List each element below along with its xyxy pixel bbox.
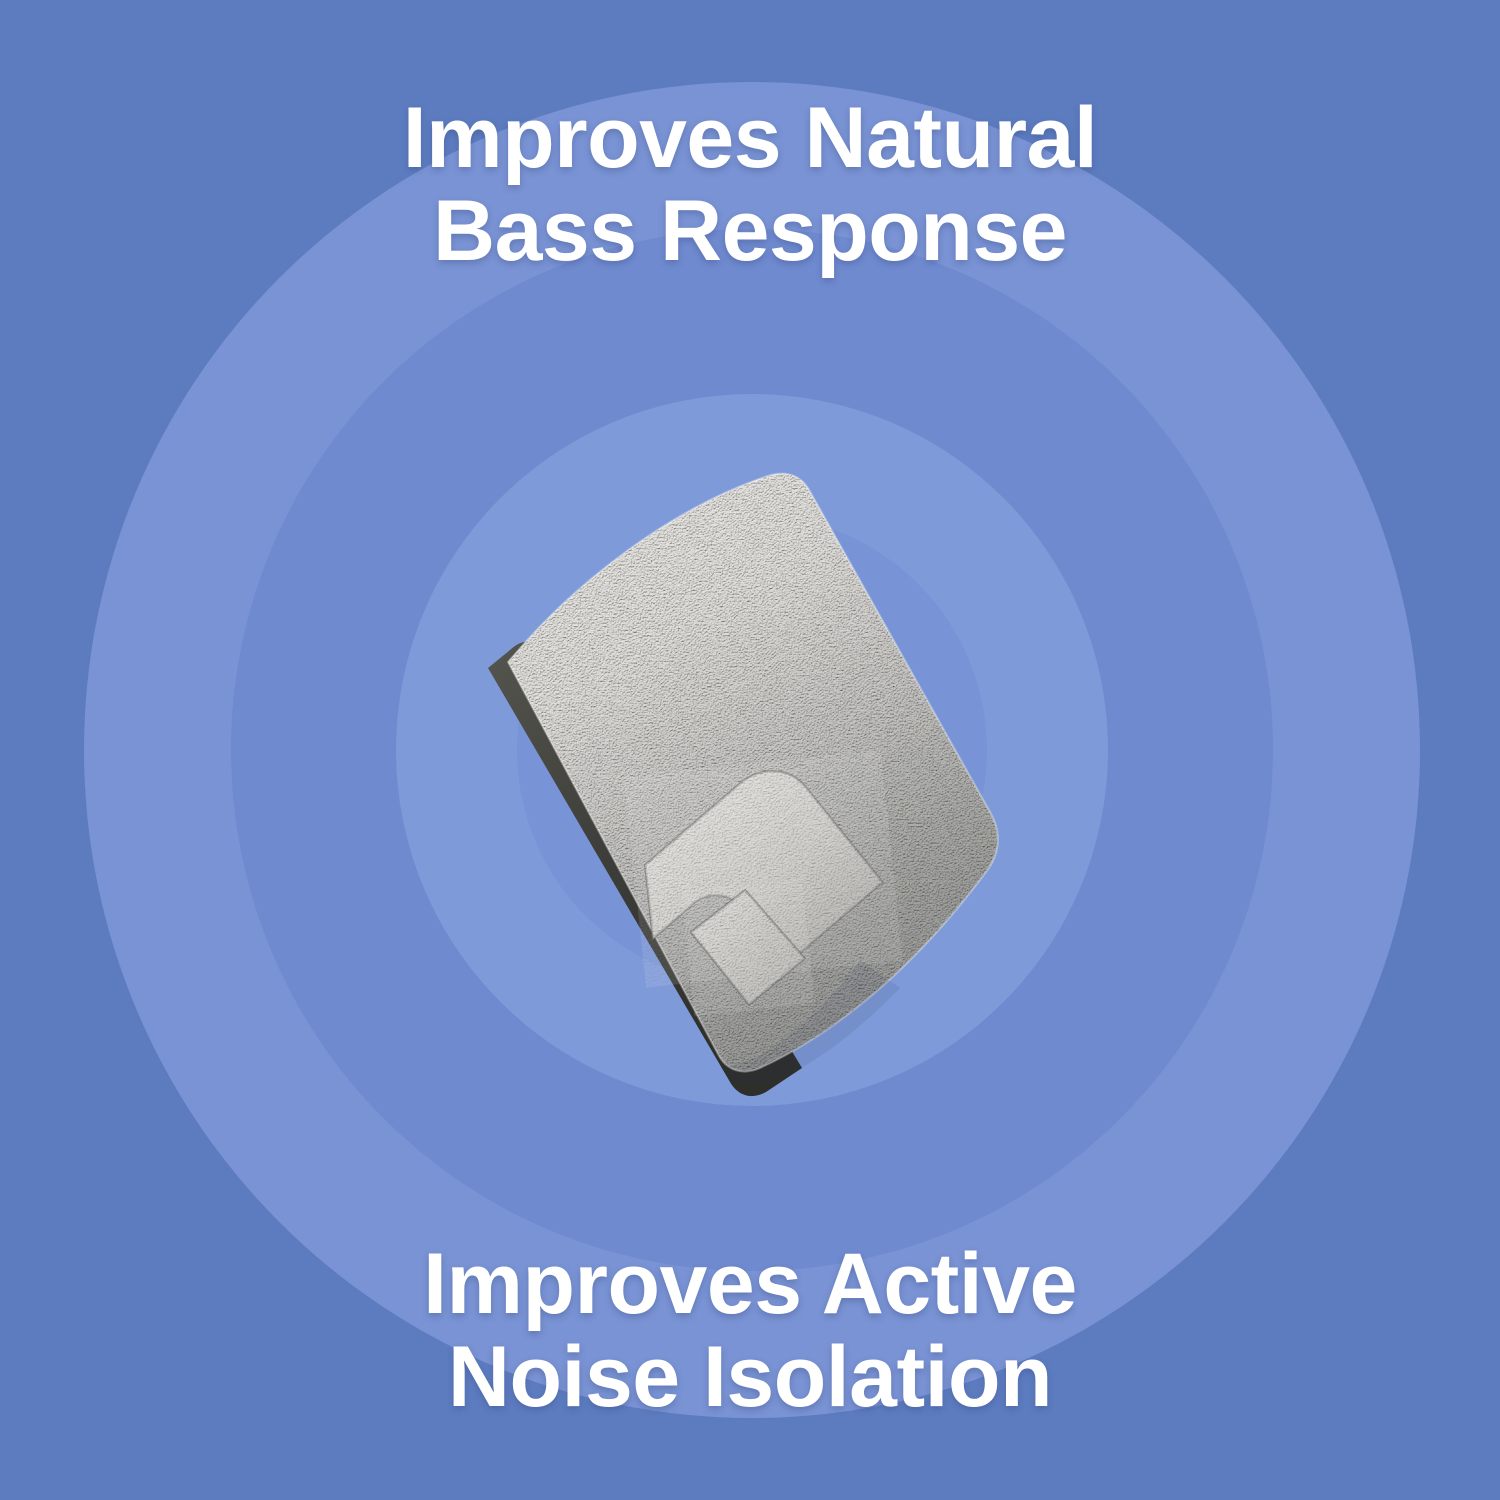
headline-bottom: Improves Active Noise Isolation [0,1238,1500,1424]
headline-top-line-1: Improves Natural [0,92,1500,185]
product-feature-graphic: Improves Natural Bass Response [0,0,1500,1500]
headline-bottom-line-2: Noise Isolation [0,1331,1500,1424]
headline-bottom-line-1: Improves Active [0,1238,1500,1331]
headline-top-line-2: Bass Response [0,185,1500,278]
headline-top: Improves Natural Bass Response [0,92,1500,278]
product-image-foam-ear-tip [430,440,1090,1100]
